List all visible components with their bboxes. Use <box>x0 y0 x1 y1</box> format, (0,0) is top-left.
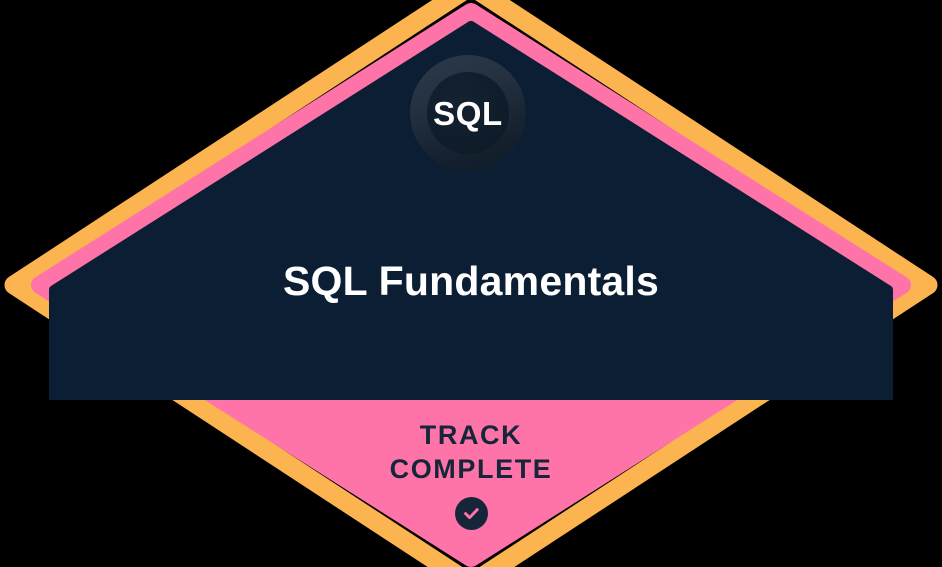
track-completion-badge: SQL SQL Fundamentals TRACK COMPLETE <box>0 0 942 567</box>
badge-shape-layer <box>0 0 942 567</box>
dark-diamond-panel <box>54 26 888 420</box>
